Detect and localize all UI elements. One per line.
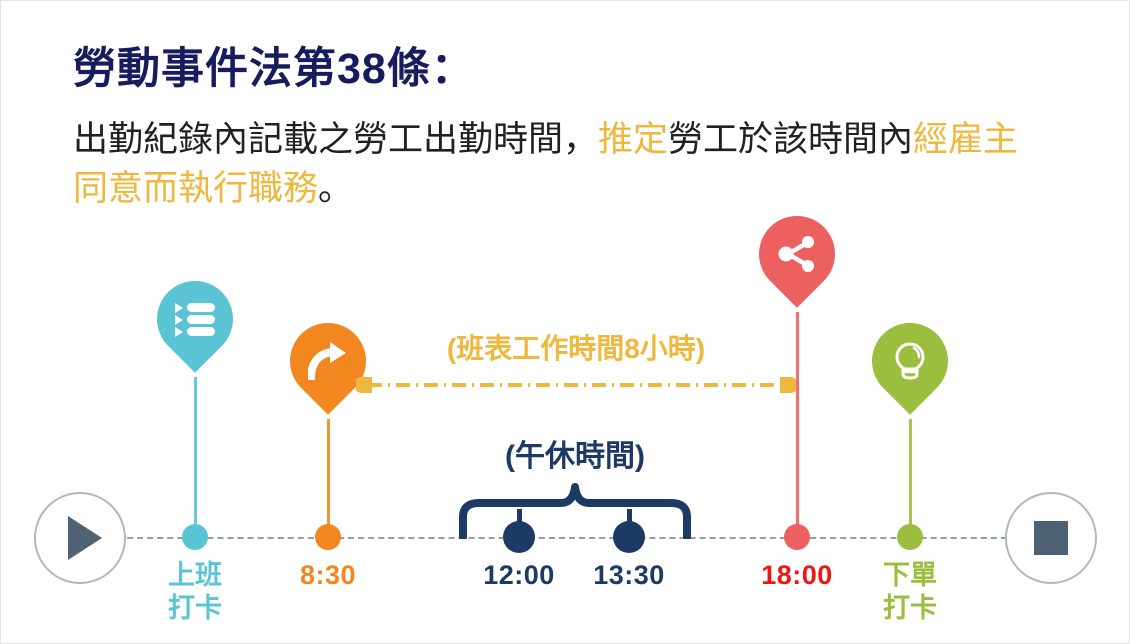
lunch-break-label: (午休時間) [453, 431, 697, 475]
scheduled-hours-arrow [356, 377, 796, 391]
milestone-label-order-clock: 下單打卡 [820, 559, 1000, 625]
timeline-dot-order-clock[interactable] [897, 524, 923, 550]
milestone-label-line1-lunch-end: 13:30 [539, 559, 719, 592]
milestone-label-line2-order-clock: 打卡 [820, 592, 1000, 625]
milestone-label-shift-start: 8:30 [238, 559, 418, 592]
scheduled-hours-annotation: (班表工作時間8小時) [356, 327, 796, 391]
milestone-label-line2-clock-in: 打卡 [105, 592, 285, 625]
paragraph-segment-1: 出勤紀錄內記載之勞工出勤時間， [73, 120, 598, 159]
pin-stem-shift-start [327, 419, 330, 537]
timeline-dot-shift-end[interactable] [784, 524, 810, 550]
pin-stem-order-clock [909, 419, 912, 537]
page-title: 勞動事件法第38條： [73, 45, 1053, 94]
play-icon [68, 516, 102, 560]
map-pin-clock-in[interactable] [141, 265, 248, 372]
milestone-label-line1-order-clock: 下單 [820, 559, 1000, 592]
curly-brace-icon [453, 481, 697, 539]
infographic-canvas: 勞動事件法第38條： 出勤紀錄內記載之勞工出勤時間，推定勞工於該時間內經雇主同意… [0, 0, 1130, 644]
scheduled-hours-label: (班表工作時間8小時) [356, 327, 796, 367]
timeline-dot-clock-in[interactable] [182, 524, 208, 550]
paragraph-segment-3: 勞工於該時間內 [668, 120, 913, 159]
stop-icon [1034, 521, 1068, 555]
list-icon [174, 298, 216, 340]
lightbulb-icon [889, 340, 931, 382]
lunch-break-brace [453, 481, 697, 544]
milestone-label-lunch-end: 13:30 [539, 559, 719, 592]
curved-arrow-icon [307, 340, 349, 382]
timeline-dot-shift-start[interactable] [315, 524, 341, 550]
paragraph-highlight-1: 推定 [598, 120, 668, 159]
heading-block: 勞動事件法第38條： 出勤紀錄內記載之勞工出勤時間，推定勞工於該時間內經雇主同意… [73, 45, 1053, 213]
paragraph-segment-5: 。 [318, 169, 353, 208]
pin-stem-clock-in [194, 377, 197, 537]
map-pin-order-clock[interactable] [856, 307, 963, 414]
share-icon [776, 233, 818, 275]
dash-dot-double-arrow-icon [356, 377, 796, 393]
milestone-label-line1-shift-start: 8:30 [238, 559, 418, 592]
timeline-end-button[interactable] [1005, 492, 1097, 584]
map-pin-shift-end[interactable] [743, 200, 850, 307]
lunch-break-annotation: (午休時間) [453, 431, 697, 544]
body-paragraph: 出勤紀錄內記載之勞工出勤時間，推定勞工於該時間內經雇主同意而執行職務。 [73, 116, 1033, 213]
